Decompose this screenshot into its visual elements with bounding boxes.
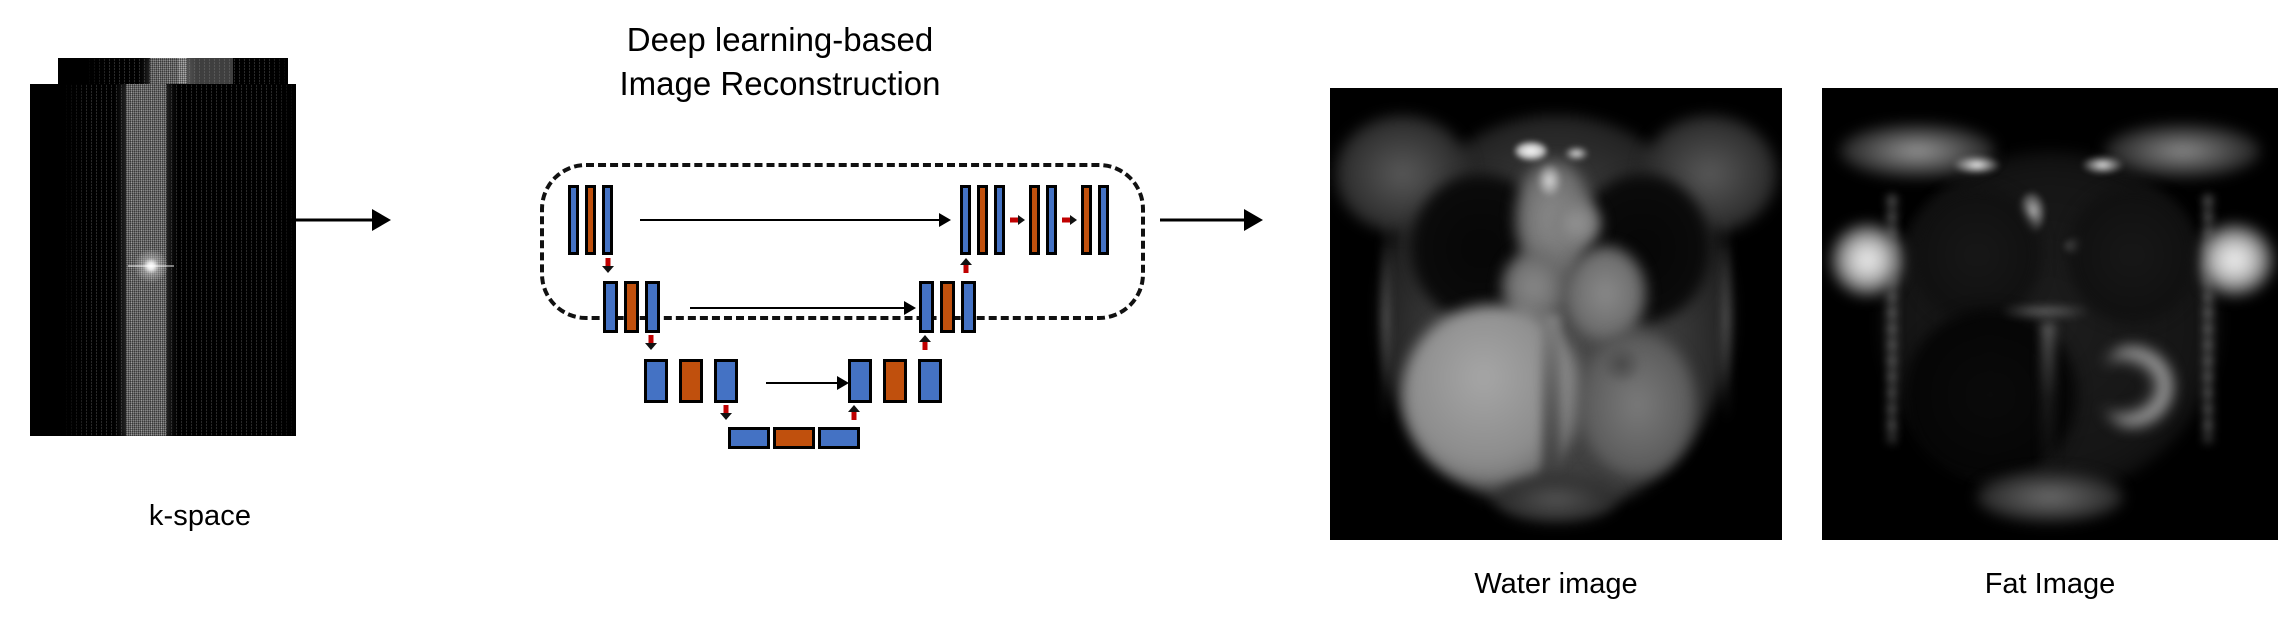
unet-block-l2-dec-2 [940,281,955,333]
output-arrow-icon [1160,210,1265,230]
unet-block-l1-dec-2 [977,185,988,255]
chest-wall-left [1384,215,1387,423]
arrow-stem [964,264,969,273]
axillary-fat-right [2196,224,2274,296]
unet-block-l1-dec-5 [1046,185,1057,255]
unet-block-l2-dec-1 [919,281,934,333]
unet-skip-arrow-l1 [640,214,955,226]
heart-chamber-right [1565,246,1646,341]
perisplenic-fat-arc [2096,346,2174,427]
figure-canvas: k-space Deep learning-based Image Recons… [0,0,2292,637]
arrow-shaft [290,219,374,222]
unet-downsample-arrow-1 [602,258,614,273]
input-arrow-icon [290,210,390,230]
unet-block-l1-enc-2 [585,185,596,255]
chest-wall-right [1725,215,1728,423]
unet-block-l3-dec-2 [883,359,907,403]
arrow-head [904,301,916,315]
network-title-line1: Deep learning-based [520,18,1040,62]
shoulder-fat-right [2105,124,2260,178]
unet-block-l3-dec-1 [848,359,872,403]
arrow-tip [1070,215,1077,225]
axillary-fat-left [1831,224,1904,296]
unet-block-l3-enc-1 [644,359,668,403]
unet-block-l3-dec-3 [918,359,942,403]
diaphragm-fat [2004,309,2086,314]
posterior-elements [1497,477,1615,522]
arrow-tip [602,266,614,273]
network-box [540,163,1145,320]
arrow-head [1244,209,1263,231]
spine [1542,314,1560,486]
unet-block-l3-enc-3 [714,359,738,403]
unet-downsample-arrow-3 [720,405,732,420]
unet-upsample-arrow-2 [919,335,931,350]
stomach-lumen [1601,346,1642,382]
arrow-shaft [1160,219,1246,222]
spine [2041,323,2055,477]
arrow-tip [919,335,931,342]
arrow-tip [720,413,732,420]
unet-block-l1-enc-1 [568,185,579,255]
unet-block-l1-enc-3 [602,185,613,255]
arrow-tip [645,343,657,350]
unet-block-l1-dec-6 [1081,185,1092,255]
unet-block-l2-enc-2 [624,281,639,333]
arrow-shaft [640,219,940,221]
unet-upsample-arrow-3 [848,405,860,420]
unet-block-bottleneck-3 [818,427,860,449]
arrow-shaft [690,307,905,309]
arrow-tip [1018,215,1025,225]
arrow-stem [923,341,928,350]
unet-downsample-arrow-2 [645,335,657,350]
unet-diagram [540,163,1145,320]
unet-block-l1-dec-4 [1029,185,1040,255]
kspace-left-edge [30,84,89,436]
kspace-label: k-space [20,500,380,533]
unet-block-l2-enc-3 [645,281,660,333]
unet-block-l1-dec-1 [960,185,971,255]
arrow-tip [848,405,860,412]
arrow-head [939,213,951,227]
kspace-right-edge [275,84,296,436]
kspace-stack [20,58,380,498]
arrow-tip [960,258,972,265]
arrow-shaft [766,382,838,384]
kspace-dc-peak [134,249,168,283]
unet-block-l3-enc-2 [679,359,703,403]
unet-block-bottleneck-1 [728,427,770,449]
unet-block-l2-dec-3 [961,281,976,333]
unet-block-l1-dec-3 [994,185,1005,255]
kspace-slice-front [30,84,296,436]
fat-highlight-1 [1954,156,2000,174]
posterior-fat [1977,472,2123,522]
network-title-line2: Image Reconstruction [520,62,1040,106]
water-image-label: Water image [1330,568,1782,601]
lung-left [1913,187,2041,323]
network-title: Deep learning-based Image Reconstruction [520,18,1040,106]
fat-image-label: Fat Image [1822,568,2278,601]
vessel-highlight-3 [1538,165,1561,197]
unet-skip-arrow-l3 [766,377,852,389]
unet-block-l1-dec-7 [1098,185,1109,255]
unet-block-bottleneck-2 [773,427,815,449]
arrow-head [372,209,391,231]
fat-image [1822,88,2278,540]
unet-skip-arrow-l2 [690,302,920,314]
lung-right [2068,187,2196,323]
water-image [1330,88,1782,540]
pulmonary-artery [1551,201,1601,246]
unet-head-arrow-1 [1010,214,1025,225]
arrow-stem [852,411,857,420]
fat-highlight-2 [2082,156,2123,174]
unet-block-l2-enc-1 [603,281,618,333]
unet-head-arrow-2 [1062,214,1077,225]
unet-upsample-arrow-1 [960,258,972,273]
vessel-highlight-2 [1565,147,1588,161]
